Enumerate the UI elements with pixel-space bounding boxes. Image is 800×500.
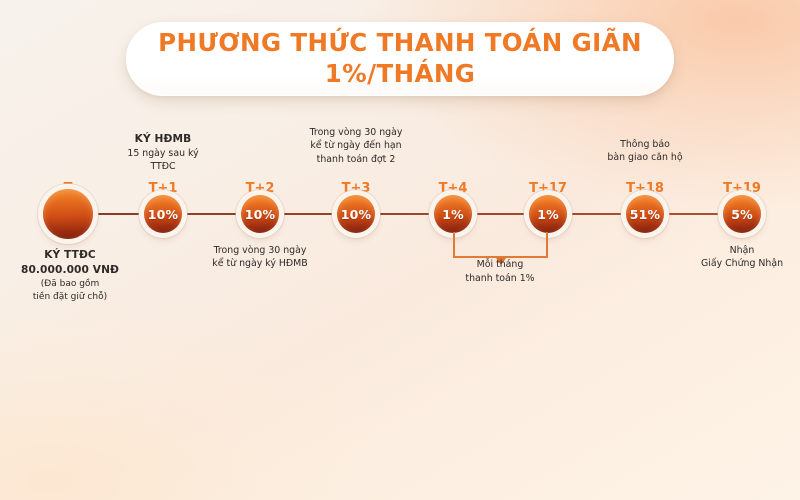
description-t-line-4: tiền đặt giữ chỗ) — [21, 291, 119, 304]
description-t3-line-2: kể từ ngày đến hạn — [310, 139, 403, 152]
timeline-node-t3[interactable]: 10% — [337, 195, 375, 233]
description-t19: Nhận Giấy Chứng Nhận — [701, 244, 783, 271]
description-t1-line-3: TTĐC — [127, 160, 198, 173]
description-t-line-3: (Đã bao gồm — [21, 278, 119, 291]
description-t2: Trong vòng 30 ngày kể từ ngày ký HĐMB — [212, 244, 307, 271]
timeline-node-t3-value: 10% — [341, 207, 372, 222]
bracket-leg-left — [453, 232, 455, 258]
timeline-node-t4[interactable]: 1% — [434, 195, 472, 233]
description-t19-line-1: Nhận — [701, 244, 783, 257]
title-line-2: 1%/THÁNG — [325, 59, 476, 90]
period-label-t1: T+1 — [149, 181, 178, 196]
monthly-payment-label-line-1: Mỗi tháng — [465, 258, 534, 272]
description-t-line-2: 80.000.000 VNĐ — [21, 263, 119, 278]
description-t1: KÝ HĐMB 15 ngày sau ký TTĐC — [127, 132, 198, 174]
description-t2-line-1: Trong vòng 30 ngày — [212, 244, 307, 257]
period-label-t19: T+19 — [723, 181, 761, 196]
period-label-t4: T+4 — [439, 181, 468, 196]
description-t18: Thông báo bàn giao căn hộ — [607, 138, 682, 165]
timeline-node-t17-value: 1% — [537, 207, 559, 222]
timeline-node-t2[interactable]: 10% — [241, 195, 279, 233]
timeline-node-t19[interactable]: 5% — [723, 195, 761, 233]
timeline-node-t17[interactable]: 1% — [529, 195, 567, 233]
bracket-leg-right — [546, 232, 548, 258]
title-banner: PHƯƠNG THỨC THANH TOÁN GIÃN 1%/THÁNG — [126, 22, 674, 96]
timeline-node-t19-value: 5% — [731, 207, 753, 222]
description-t3-line-1: Trong vòng 30 ngày — [310, 126, 403, 139]
description-t3: Trong vòng 30 ngày kể từ ngày đến hạn th… — [310, 126, 403, 166]
monthly-payment-label: Mỗi tháng thanh toán 1% — [465, 258, 534, 285]
period-label-t3: T+3 — [342, 181, 371, 196]
description-t1-line-2: 15 ngày sau ký — [127, 147, 198, 160]
period-label-t18: T+18 — [626, 181, 664, 196]
description-t18-line-1: Thông báo — [607, 138, 682, 151]
description-t1-line-1: KÝ HĐMB — [127, 132, 198, 147]
timeline-node-t18[interactable]: 51% — [626, 195, 664, 233]
description-t19-line-2: Giấy Chứng Nhận — [701, 257, 783, 270]
timeline-node-t1-value: 10% — [148, 207, 179, 222]
timeline-node-t2-value: 10% — [245, 207, 276, 222]
period-label-t17: T+17 — [529, 181, 567, 196]
description-t3-line-3: thanh toán đợt 2 — [310, 153, 403, 166]
description-t-line-1: KÝ TTĐC — [21, 248, 119, 263]
description-t2-line-2: kể từ ngày ký HĐMB — [212, 257, 307, 270]
timeline-node-t4-value: 1% — [442, 207, 464, 222]
description-t18-line-2: bàn giao căn hộ — [607, 151, 682, 164]
timeline-node-t18-value: 51% — [630, 207, 661, 222]
title-line-1: PHƯƠNG THỨC THANH TOÁN GIÃN — [158, 28, 642, 59]
period-label-t2: T+2 — [246, 181, 275, 196]
monthly-payment-bracket — [453, 232, 548, 258]
timeline-node-t1[interactable]: 10% — [144, 195, 182, 233]
timeline-node-t[interactable] — [43, 189, 93, 239]
monthly-payment-label-line-2: thanh toán 1% — [465, 272, 534, 286]
infographic-canvas: PHƯƠNG THỨC THANH TOÁN GIÃN 1%/THÁNG T K… — [0, 0, 800, 500]
description-t: KÝ TTĐC 80.000.000 VNĐ (Đã bao gồm tiền … — [21, 248, 119, 304]
